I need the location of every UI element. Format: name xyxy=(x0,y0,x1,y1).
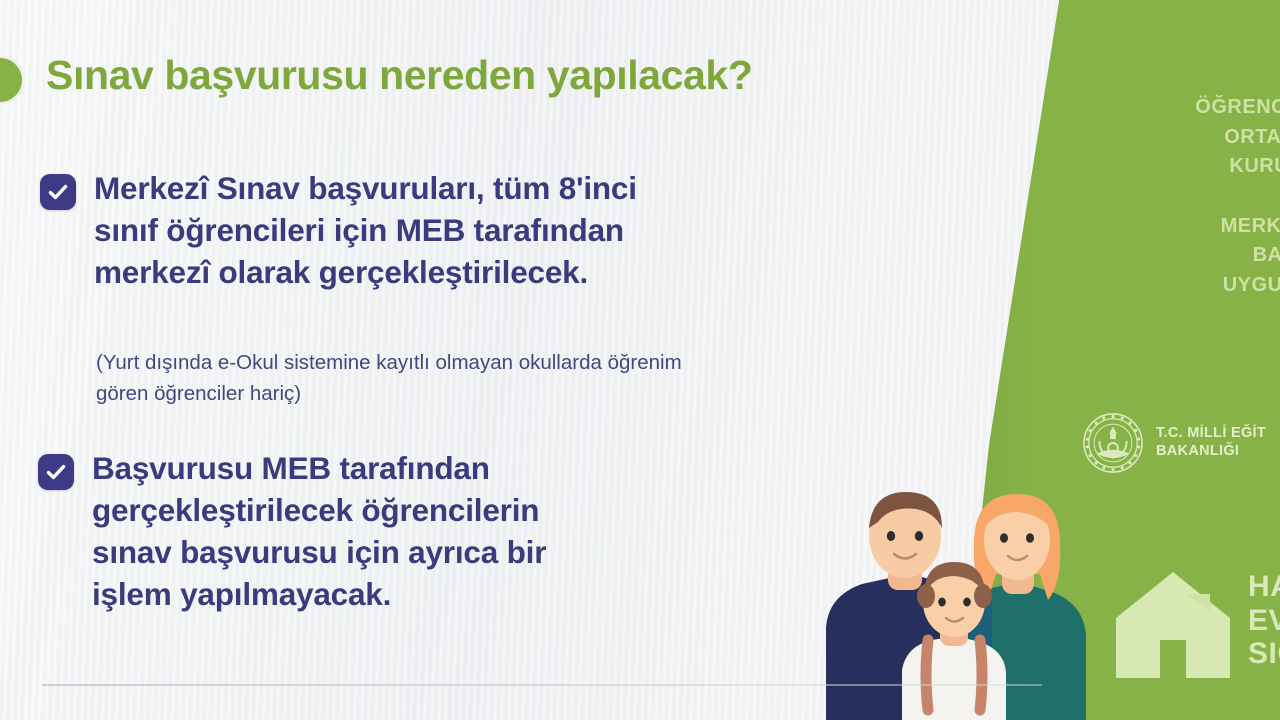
hayat-eve-sigar-line: EV xyxy=(1248,604,1280,638)
panel-caption-line: UYGULAMAL xyxy=(1055,271,1280,301)
panel-caption-line: İLİŞ xyxy=(1055,182,1280,212)
panel-caption-line: KURUMLARI xyxy=(1055,152,1280,182)
panel-caption-line: SINAV xyxy=(1055,64,1280,94)
page-title: Sınav başvurusu nereden yapılacak? xyxy=(46,52,752,99)
house-icon xyxy=(1112,566,1234,678)
hayat-eve-sigar-text: HAYEVSIĞ xyxy=(1248,570,1280,671)
meb-logo: T.C. MİLLİ EĞİT BAKANLIĞI xyxy=(1082,412,1266,474)
hayat-eve-sigar-line: HAY xyxy=(1248,570,1280,604)
panel-caption-line: ÖĞRENCİ ALAC xyxy=(1055,93,1280,123)
bullet-item-1: Merkezî Sınav başvuruları, tüm 8'inci sı… xyxy=(40,168,637,294)
hayat-eve-sigar-logo: HAYEVSIĞ xyxy=(1112,566,1280,678)
panel-caption-line: BAŞVURU xyxy=(1055,241,1280,271)
panel-caption-line: MERKEZÎ SIN xyxy=(1055,212,1280,242)
bullet-item-2-text: Başvurusu MEB tarafından gerçekleştirile… xyxy=(92,448,546,616)
green-circle-badge xyxy=(0,58,22,102)
meb-logo-text: T.C. MİLLİ EĞİT BAKANLIĞI xyxy=(1156,425,1266,460)
exception-note: (Yurt dışında e-Okul sistemine kayıtlı o… xyxy=(96,348,976,410)
panel-caption-line: 2020 Y xyxy=(1055,34,1280,64)
infographic-poster: Sınav başvurusu nereden yapılacak? Merke… xyxy=(0,0,1280,720)
panel-caption-line: ORTAÖĞRET xyxy=(1055,123,1280,153)
bottom-divider xyxy=(42,684,1042,686)
check-square-icon xyxy=(40,174,76,210)
check-square-icon xyxy=(38,454,74,490)
meb-emblem-icon xyxy=(1082,412,1144,474)
bullet-item-2: Başvurusu MEB tarafından gerçekleştirile… xyxy=(38,448,546,616)
panel-caption: 2020 YSINAVÖĞRENCİ ALACORTAÖĞRETKURUMLAR… xyxy=(1055,34,1280,300)
bullet-item-1-text: Merkezî Sınav başvuruları, tüm 8'inci sı… xyxy=(94,168,637,294)
hayat-eve-sigar-line: SIĞ xyxy=(1248,637,1280,671)
